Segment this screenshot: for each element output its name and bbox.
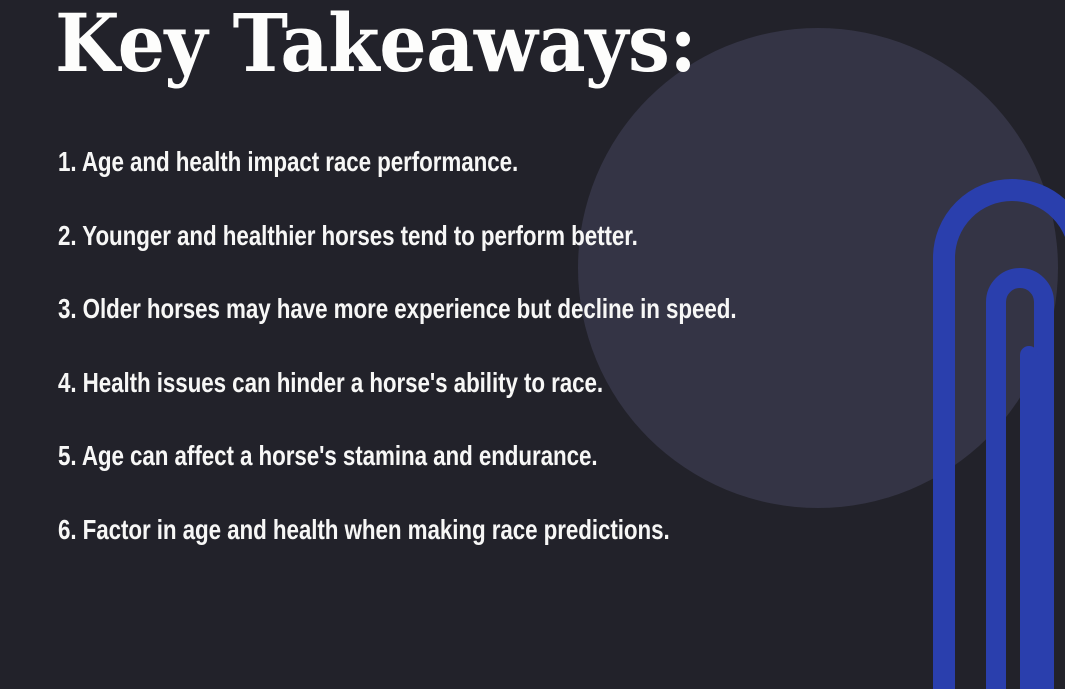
page-title: Key Takeaways: (55, 0, 696, 90)
takeaway-list: 1. Age and health impact race performanc… (58, 148, 1018, 544)
list-item: 2. Younger and healthier horses tend to … (58, 222, 826, 250)
list-item: 3. Older horses may have more experience… (58, 295, 826, 323)
slide-canvas: Key Takeaways: 1. Age and health impact … (0, 0, 1065, 689)
slide-content: Key Takeaways: 1. Age and health impact … (0, 0, 1065, 689)
list-item: 5. Age can affect a horse's stamina and … (58, 442, 826, 470)
list-item: 4. Health issues can hinder a horse's ab… (58, 369, 826, 397)
list-item: 6. Factor in age and health when making … (58, 516, 826, 544)
list-item: 1. Age and health impact race performanc… (58, 148, 826, 176)
